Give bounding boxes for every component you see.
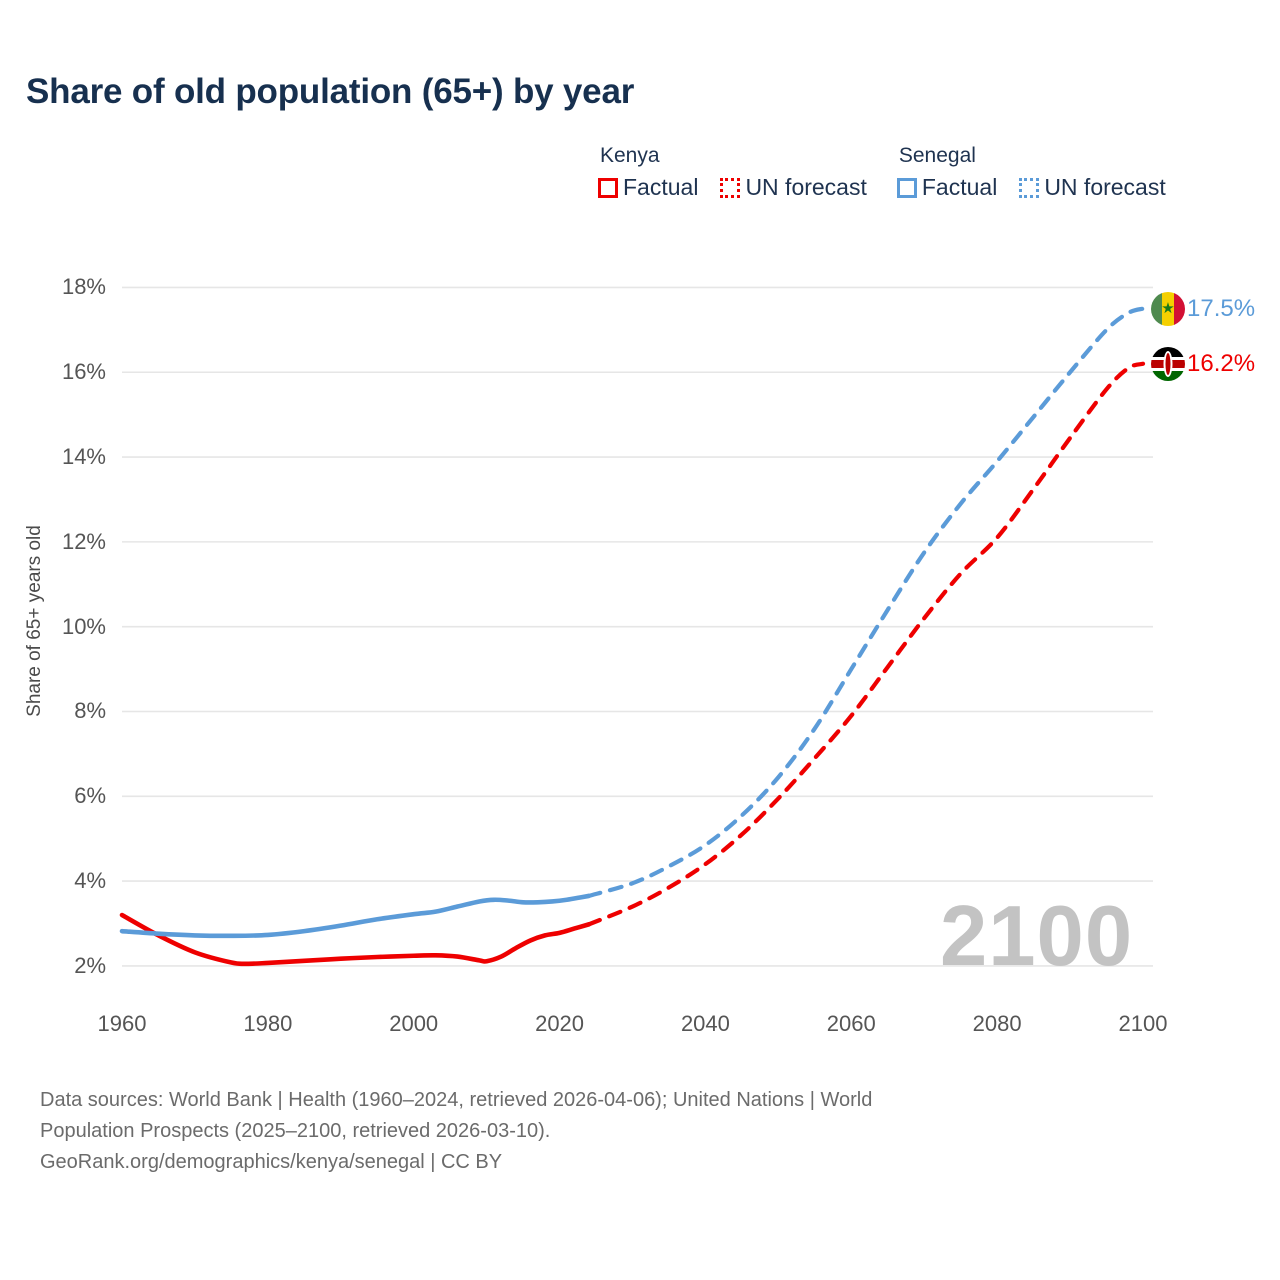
x-axis-tick-label: 2060 <box>791 1011 911 1037</box>
x-axis-tick-label: 1980 <box>208 1011 328 1037</box>
year-watermark: 2100 <box>940 888 1133 986</box>
end-label-value: 17.5% <box>1187 295 1255 323</box>
y-axis-tick-label: 10% <box>36 614 106 640</box>
y-axis-tick-label: 4% <box>36 868 106 894</box>
end-label-senegal: ★17.5% <box>1151 292 1255 326</box>
x-axis-tick-label: 2040 <box>645 1011 765 1037</box>
x-axis-tick-label: 2080 <box>937 1011 1057 1037</box>
senegal-flag-icon: ★ <box>1151 292 1185 326</box>
y-axis-tick-label: 14% <box>36 444 106 470</box>
y-axis-tick-label: 2% <box>36 953 106 979</box>
y-axis-tick-label: 6% <box>36 783 106 809</box>
footer-line-2: Population Prospects (2025–2100, retriev… <box>40 1116 1160 1147</box>
x-axis-tick-label: 2020 <box>500 1011 620 1037</box>
x-axis-tick-label: 1960 <box>62 1011 182 1037</box>
chart-container: Share of old population (65+) by year Ke… <box>0 0 1280 1280</box>
y-axis-tick-label: 12% <box>36 529 106 555</box>
end-label-kenya: 16.2% <box>1151 347 1255 381</box>
x-axis-tick-label: 2000 <box>354 1011 474 1037</box>
line-factual-senegal <box>122 896 589 936</box>
kenya-flag-icon <box>1151 347 1185 381</box>
end-label-value: 16.2% <box>1187 350 1255 378</box>
footer-line-3: GeoRank.org/demographics/kenya/senegal |… <box>40 1147 1160 1178</box>
y-axis-tick-label: 16% <box>36 359 106 385</box>
x-axis-tick-label: 2100 <box>1083 1011 1203 1037</box>
footer-line-1: Data sources: World Bank | Health (1960–… <box>40 1085 1160 1116</box>
line-forecast-senegal <box>589 309 1143 896</box>
footer-sources: Data sources: World Bank | Health (1960–… <box>40 1085 1160 1178</box>
y-axis-tick-label: 18% <box>36 274 106 300</box>
y-axis-tick-label: 8% <box>36 698 106 724</box>
